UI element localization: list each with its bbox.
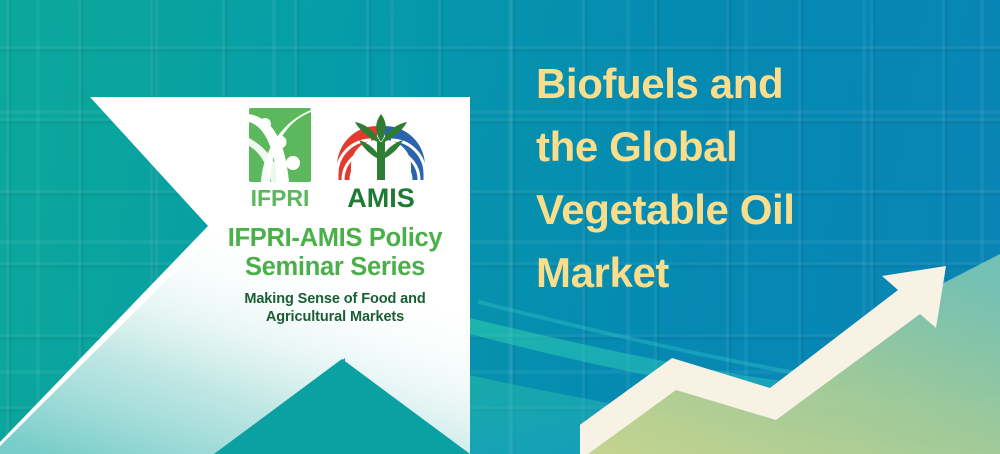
series-tagline-line-1: Making Sense of Food and (196, 290, 474, 308)
ifpri-logo-text: IFPRI (251, 185, 310, 211)
amis-logo-text: AMIS (347, 183, 415, 212)
series-title-line-1: IFPRI-AMIS Policy (196, 224, 474, 253)
headline-line-1: Biofuels and (536, 52, 966, 115)
series-title: IFPRI-AMIS Policy Seminar Series (196, 224, 474, 281)
logo-row: IFPRI (196, 108, 474, 212)
ifpri-logo: IFPRI (241, 108, 319, 212)
series-tagline: Making Sense of Food and Agricultural Ma… (196, 290, 474, 326)
series-title-line-2: Seminar Series (196, 253, 474, 282)
series-tagline-line-2: Agricultural Markets (196, 308, 474, 326)
headline-line-3: Vegetable Oil (536, 178, 966, 241)
amis-logo: AMIS (333, 108, 429, 212)
slide-canvas: IFPRI (0, 0, 1000, 454)
banner-content: IFPRI (196, 108, 474, 326)
headline-line-2: the Global (536, 115, 966, 178)
headline-line-4: Market (536, 241, 966, 304)
page-title: Biofuels and the Global Vegetable Oil Ma… (536, 52, 966, 304)
